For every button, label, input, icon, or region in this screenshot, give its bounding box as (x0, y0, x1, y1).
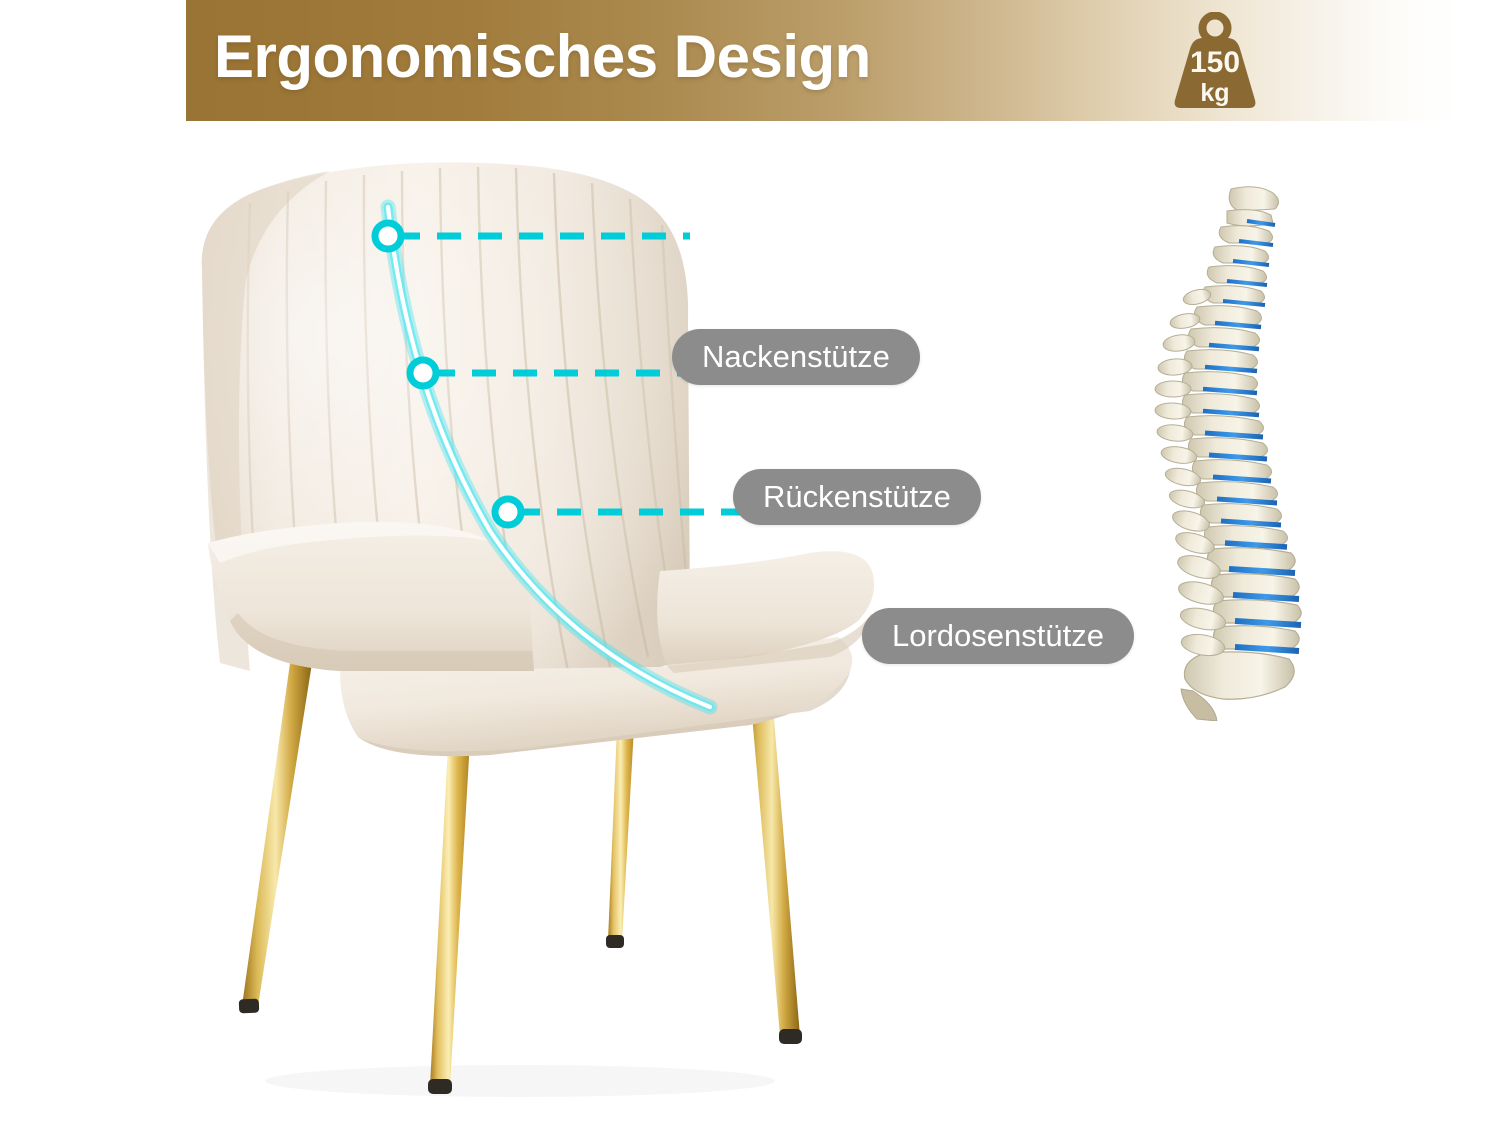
leg-tip (428, 1079, 452, 1094)
leg-tip (779, 1029, 802, 1044)
leg-tip (606, 935, 624, 948)
callout-neck-support[interactable]: Nackenstütze (672, 329, 920, 385)
sacrum (1184, 652, 1294, 699)
weight-capacity-badge: 150 kg (1167, 12, 1263, 112)
weight-value: 150 (1190, 46, 1240, 79)
product-stage: Nackenstütze Rückenstütze Lordosenstütze (0, 121, 1500, 1125)
chair-illustration (190, 151, 890, 1111)
callout-label: Lordosenstütze (892, 618, 1104, 654)
callout-back-support[interactable]: Rückenstütze (733, 469, 981, 525)
weight-icon: 150 kg (1167, 12, 1263, 112)
callout-lumbar-support[interactable]: Lordosenstütze (862, 608, 1134, 664)
chair-shadow (265, 1065, 775, 1097)
callout-label: Rückenstütze (763, 479, 951, 515)
leg-rear-left (242, 663, 312, 1006)
page-title: Ergonomisches Design (214, 22, 871, 91)
spine-illustration (1135, 181, 1335, 721)
leg-tip (239, 999, 259, 1014)
vertebrae-stack (1155, 187, 1302, 721)
callout-label: Nackenstütze (702, 339, 890, 375)
weight-unit: kg (1200, 79, 1229, 107)
